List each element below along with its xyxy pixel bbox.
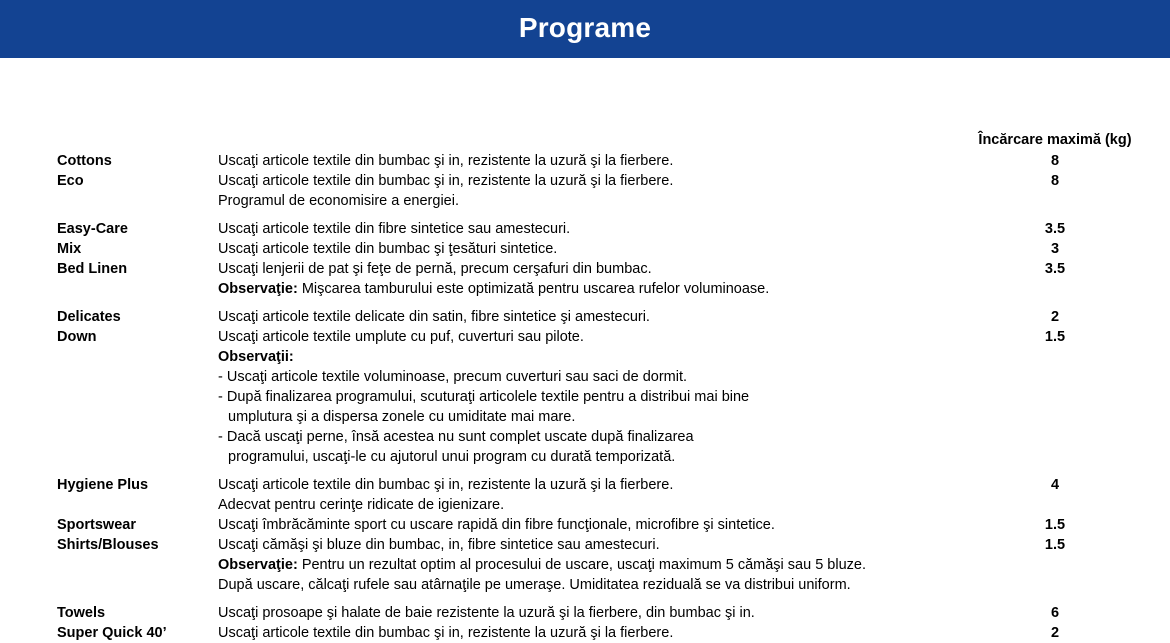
max-load-value: 8: [966, 171, 1144, 191]
description-note-line: Observaţii:: [218, 347, 958, 367]
max-load-value: 1.5: [966, 327, 1144, 347]
program-name: Shirts/Blouses: [57, 535, 217, 555]
note-label: Observaţie:: [218, 557, 298, 573]
program-description: Uscaţi articole textile din bumbac şi ţe…: [218, 239, 958, 259]
max-load-value: 1.5: [966, 535, 1144, 555]
description-line: Uscaţi articole textile din bumbac şi ţe…: [218, 239, 958, 259]
table-row: MixUscaţi articole textile din bumbac şi…: [0, 239, 1170, 259]
max-load-value: 4: [966, 475, 1144, 495]
table-row: DelicatesUscaţi articole textile delicat…: [0, 307, 1170, 327]
program-name: Sportswear: [57, 515, 217, 535]
description-note-line: Observaţie: Pentru un rezultat optim al …: [218, 555, 958, 575]
note-text: Pentru un rezultat optim al procesului d…: [298, 557, 866, 573]
table-row: CottonsUscaţi articole textile din bumba…: [0, 151, 1170, 171]
row-spacer: [0, 595, 1170, 603]
program-name: Cottons: [57, 151, 217, 171]
max-load-value: 6: [966, 603, 1144, 623]
table-row: Shirts/BlousesUscaţi cămăşi şi bluze din…: [0, 535, 1170, 595]
description-line: Uscaţi îmbrăcăminte sport cu uscare rapi…: [218, 515, 958, 535]
page-title: Programe: [519, 14, 651, 44]
description-line: Uscaţi articole textile din bumbac şi in…: [218, 171, 958, 191]
table-row: DownUscaţi articole textile umplute cu p…: [0, 327, 1170, 467]
description-line: Uscaţi articole textile umplute cu puf, …: [218, 327, 958, 347]
max-load-value: 3.5: [966, 219, 1144, 239]
description-line: Uscaţi articole textile din bumbac şi in…: [218, 475, 958, 495]
description-line: programului, uscaţi-le cu ajutorul unui …: [218, 447, 958, 467]
page-header-bar: Programe: [0, 0, 1170, 58]
table-row: Easy-CareUscaţi articole textile din fib…: [0, 219, 1170, 239]
program-description: Uscaţi articole textile din bumbac şi in…: [218, 623, 958, 643]
program-name: Easy-Care: [57, 219, 217, 239]
program-name: Mix: [57, 239, 217, 259]
description-line: Uscaţi articole textile din bumbac şi in…: [218, 151, 958, 171]
program-description: Uscaţi articole textile din bumbac şi in…: [218, 151, 958, 171]
program-name: Bed Linen: [57, 259, 217, 279]
description-line: - Dacă uscaţi perne, însă acestea nu sun…: [218, 427, 958, 447]
table-row: EcoUscaţi articole textile din bumbac şi…: [0, 171, 1170, 211]
max-load-value: 1.5: [966, 515, 1144, 535]
program-description: Uscaţi articole textile din fibre sintet…: [218, 219, 958, 239]
max-load-value: 2: [966, 307, 1144, 327]
description-line: Uscaţi prosoape şi halate de baie rezist…: [218, 603, 958, 623]
description-line: După uscare, călcaţi rufele sau atârnaţi…: [218, 575, 958, 595]
description-line: Uscaţi articole textile delicate din sat…: [218, 307, 958, 327]
note-label: Observaţie:: [218, 281, 298, 297]
program-description: Uscaţi îmbrăcăminte sport cu uscare rapi…: [218, 515, 958, 535]
program-rows: CottonsUscaţi articole textile din bumba…: [0, 151, 1170, 643]
table-row: Hygiene PlusUscaţi articole textile din …: [0, 475, 1170, 515]
description-line: - După finalizarea programului, scuturaţ…: [218, 387, 958, 407]
program-name: Towels: [57, 603, 217, 623]
max-load-value: 3.5: [966, 259, 1144, 279]
description-line: - Uscaţi articole textile voluminoase, p…: [218, 367, 958, 387]
table-row: SportswearUscaţi îmbrăcăminte sport cu u…: [0, 515, 1170, 535]
max-load-value: 2: [966, 623, 1144, 643]
row-spacer: [0, 467, 1170, 475]
description-line: Adecvat pentru cerinţe ridicate de igien…: [218, 495, 958, 515]
note-text: Mişcarea tamburului este optimizată pent…: [298, 281, 769, 297]
max-load-value: 8: [966, 151, 1144, 171]
program-description: Uscaţi articole textile din bumbac şi in…: [218, 171, 958, 211]
program-description: Uscaţi lenjerii de pat şi feţe de pernă,…: [218, 259, 958, 299]
description-line: Uscaţi articole textile din fibre sintet…: [218, 219, 958, 239]
program-description: Uscaţi articole textile umplute cu puf, …: [218, 327, 958, 467]
table-row: Super Quick 40’Uscaţi articole textile d…: [0, 623, 1170, 643]
table-row: Bed LinenUscaţi lenjerii de pat şi feţe …: [0, 259, 1170, 299]
max-load-value: 3: [966, 239, 1144, 259]
program-description: Uscaţi prosoape şi halate de baie rezist…: [218, 603, 958, 623]
program-description: Uscaţi articole textile din bumbac şi in…: [218, 475, 958, 515]
programs-table: Încărcare maximă (kg) CottonsUscaţi arti…: [0, 58, 1170, 555]
table-row: TowelsUscaţi prosoape şi halate de baie …: [0, 603, 1170, 623]
program-name: Hygiene Plus: [57, 475, 217, 495]
program-description: Uscaţi articole textile delicate din sat…: [218, 307, 958, 327]
program-description: Uscaţi cămăşi şi bluze din bumbac, in, f…: [218, 535, 958, 595]
program-name: Eco: [57, 171, 217, 191]
row-spacer: [0, 299, 1170, 307]
description-line: Programul de economisire a energiei.: [218, 191, 958, 211]
program-name: Delicates: [57, 307, 217, 327]
description-line: Uscaţi lenjerii de pat şi feţe de pernă,…: [218, 259, 958, 279]
note-label: Observaţii:: [218, 349, 294, 365]
description-line: Uscaţi cămăşi şi bluze din bumbac, in, f…: [218, 535, 958, 555]
program-name: Down: [57, 327, 217, 347]
description-note-line: Observaţie: Mişcarea tamburului este opt…: [218, 279, 958, 299]
description-line: Uscaţi articole textile din bumbac şi in…: [218, 623, 958, 643]
program-name: Super Quick 40’: [57, 623, 217, 643]
row-spacer: [0, 211, 1170, 219]
description-line: umplutura şi a dispersa zonele cu umidit…: [218, 407, 958, 427]
load-column-header: Încărcare maximă (kg): [966, 132, 1144, 148]
